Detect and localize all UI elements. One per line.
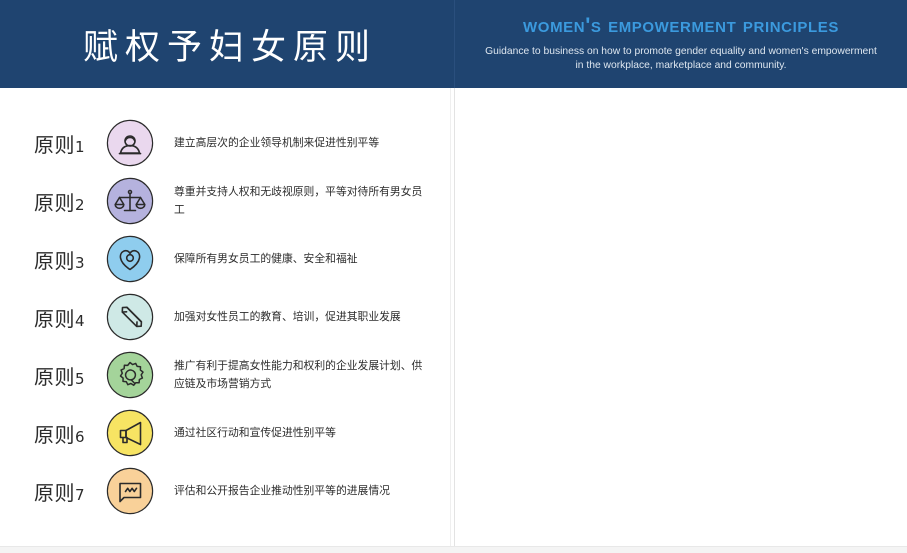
principle-text-cn-7: 评估和公开报告企业推动性别平等的进展情况 xyxy=(174,482,390,500)
gear-icon xyxy=(106,351,154,399)
principle-text-cn-1: 建立高层次的企业领导机制来促进性别平等 xyxy=(174,134,379,152)
megaphone-icon xyxy=(106,409,154,457)
heart-icon xyxy=(106,235,154,283)
header-bar: 赋权予妇女原则 Women's Empowerment Principles G… xyxy=(0,0,907,88)
principle-text-cn-6: 通过社区行动和宣传促进性别平等 xyxy=(174,424,336,442)
person-icon xyxy=(106,119,154,167)
principles-panel-en: Principle 1Establish high-level corporat… xyxy=(455,88,907,546)
header-left-cn: 赋权予妇女原则 xyxy=(0,0,455,88)
header-right-en: Women's Empowerment Principles Guidance … xyxy=(455,0,907,88)
principle-word-cn: 原则 xyxy=(34,365,75,389)
principle-row-cn-3: 原则3保障所有男女员工的健康、安全和福祉 xyxy=(34,230,444,288)
page-subtitle-en: Guidance to business on how to promote g… xyxy=(481,45,881,73)
content-body: 原则1建立高层次的企业领导机制来促进性别平等原则2尊重并支持人权和无歧视原则，平… xyxy=(0,88,907,546)
principle-label-cn-6: 原则6 xyxy=(34,419,106,448)
principle-word-cn: 原则 xyxy=(34,249,75,273)
report-chart-icon-graphic xyxy=(106,467,154,515)
principle-row-cn-2: 原则2尊重并支持人权和无歧视原则，平等对待所有男女员工 xyxy=(34,172,444,230)
heart-icon-graphic xyxy=(106,235,154,283)
principle-text-cn-4: 加强对女性员工的教育、培训，促进其职业发展 xyxy=(174,308,401,326)
principle-number-cn: 6 xyxy=(75,428,85,446)
principle-word-cn: 原则 xyxy=(34,133,75,157)
report-chart-icon xyxy=(106,467,154,515)
principle-number-cn: 2 xyxy=(75,196,85,214)
scales-icon xyxy=(106,177,154,225)
principle-number-cn: 4 xyxy=(75,312,85,330)
pencil-icon-graphic xyxy=(106,293,154,341)
principles-list-cn: 原则1建立高层次的企业领导机制来促进性别平等原则2尊重并支持人权和无歧视原则，平… xyxy=(0,88,454,546)
infographic-page: 赋权予妇女原则 Women's Empowerment Principles G… xyxy=(0,0,907,553)
bottom-strip xyxy=(0,546,907,553)
megaphone-icon-graphic xyxy=(106,409,154,457)
scales-icon-graphic xyxy=(106,177,154,225)
principle-number-cn: 3 xyxy=(75,254,85,272)
principle-row-cn-4: 原则4加强对女性员工的教育、培训，促进其职业发展 xyxy=(34,288,444,346)
principle-number-cn: 5 xyxy=(75,370,85,388)
principle-word-cn: 原则 xyxy=(34,307,75,331)
gear-icon-graphic xyxy=(106,351,154,399)
principle-row-cn-5: 原则5推广有利于提高女性能力和权利的企业发展计划、供应链及市场营销方式 xyxy=(34,346,444,404)
principle-row-cn-7: 原则7评估和公开报告企业推动性别平等的进展情况 xyxy=(34,462,444,520)
principle-label-cn-2: 原则2 xyxy=(34,187,106,216)
principles-list-en: Principle 1Establish high-level corporat… xyxy=(455,88,907,546)
principle-number-cn: 1 xyxy=(75,138,85,156)
principle-label-cn-5: 原则5 xyxy=(34,361,106,390)
principle-text-cn-3: 保障所有男女员工的健康、安全和福祉 xyxy=(174,250,358,268)
pencil-icon xyxy=(106,293,154,341)
principle-text-cn-5: 推广有利于提高女性能力和权利的企业发展计划、供应链及市场营销方式 xyxy=(174,357,426,393)
page-title-en: Women's Empowerment Principles xyxy=(523,15,839,37)
principle-label-cn-4: 原则4 xyxy=(34,303,106,332)
panel-divider xyxy=(450,88,451,546)
principles-panel-cn: 原则1建立高层次的企业领导机制来促进性别平等原则2尊重并支持人权和无歧视原则，平… xyxy=(0,88,455,546)
page-title-cn: 赋权予妇女原则 xyxy=(77,19,377,70)
principle-number-cn: 7 xyxy=(75,486,85,504)
principle-label-cn-7: 原则7 xyxy=(34,477,106,506)
person-icon-graphic xyxy=(106,119,154,167)
principle-label-cn-3: 原则3 xyxy=(34,245,106,274)
principle-row-cn-6: 原则6通过社区行动和宣传促进性别平等 xyxy=(34,404,444,462)
principle-row-cn-1: 原则1建立高层次的企业领导机制来促进性别平等 xyxy=(34,114,444,172)
principle-text-cn-2: 尊重并支持人权和无歧视原则，平等对待所有男女员工 xyxy=(174,183,426,219)
principle-label-cn-1: 原则1 xyxy=(34,129,106,158)
principle-word-cn: 原则 xyxy=(34,423,75,447)
principle-word-cn: 原则 xyxy=(34,481,75,505)
principle-word-cn: 原则 xyxy=(34,191,75,215)
